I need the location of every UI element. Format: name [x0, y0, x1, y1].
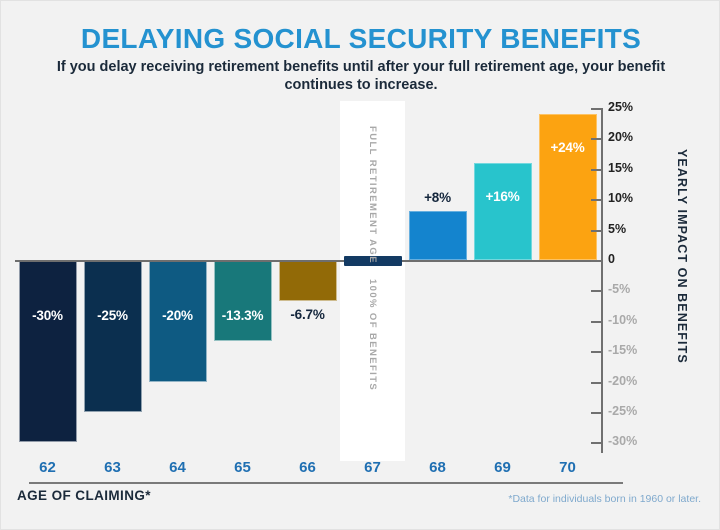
y-tick-label--30%: -30%	[608, 434, 637, 448]
x-axis-baseline	[29, 482, 623, 484]
bar-63[interactable]	[84, 260, 142, 412]
y-tick-label--25%: -25%	[608, 404, 637, 418]
age-label-62[interactable]: 62	[15, 459, 80, 476]
footnote-text: *Data for individuals born in 1960 or la…	[508, 493, 701, 505]
y-tick--5%	[591, 290, 602, 292]
y-tick-5%	[591, 230, 602, 232]
bar-value-label-63: -25%	[80, 308, 145, 323]
bar-column-70[interactable]: +24%	[535, 101, 600, 461]
bar-value-label-64: -20%	[145, 308, 210, 323]
bar-column-68[interactable]: +8%	[405, 101, 470, 461]
y-tick--15%	[591, 351, 602, 353]
age-label-70[interactable]: 70	[535, 459, 600, 476]
y-tick-label--5%: -5%	[608, 282, 630, 296]
y-tick--10%	[591, 321, 602, 323]
bar-column-69[interactable]: +16%	[470, 101, 535, 461]
bar-column-63[interactable]: -25%	[80, 101, 145, 461]
bar-value-label-65: -13.3%	[210, 308, 275, 323]
y-tick-label-5%: 5%	[608, 222, 626, 236]
x-axis-caption: AGE OF CLAIMING*	[17, 488, 151, 503]
infographic-root: DELAYING SOCIAL SECURITY BENEFITS If you…	[0, 0, 720, 530]
y-axis-title: YEARLY IMPACT ON BENEFITS	[675, 149, 689, 364]
y-tick-label-20%: 20%	[608, 130, 633, 144]
bar-70[interactable]	[539, 114, 597, 260]
y-tick-label--20%: -20%	[608, 374, 637, 388]
zero-axis-line	[15, 260, 602, 262]
y-tick-15%	[591, 169, 602, 171]
bar-69[interactable]	[474, 163, 532, 260]
bar-value-label-70: +24%	[535, 140, 600, 155]
y-tick-label--15%: -15%	[608, 343, 637, 357]
bar-62[interactable]	[19, 260, 77, 442]
y-tick-label-15%: 15%	[608, 161, 633, 175]
chart-plot-area: -30%-25%-20%-13.3%-6.7%+8%+16%+24%	[15, 101, 602, 461]
y-tick-0	[591, 260, 602, 262]
y-tick-label--10%: -10%	[608, 313, 637, 327]
age-label-69[interactable]: 69	[470, 459, 535, 476]
y-tick-25%	[591, 108, 602, 110]
bar-column-64[interactable]: -20%	[145, 101, 210, 461]
bar-value-label-62: -30%	[15, 308, 80, 323]
y-tick-label-25%: 25%	[608, 100, 633, 114]
age-label-68[interactable]: 68	[405, 459, 470, 476]
bar-value-label-68: +8%	[405, 190, 470, 205]
fra-below-axis-label: 100% OF BENEFITS	[367, 279, 378, 391]
y-tick--30%	[591, 442, 602, 444]
bar-value-label-69: +16%	[470, 189, 535, 204]
y-tick-label-0: 0	[608, 252, 615, 266]
y-tick-label-10%: 10%	[608, 191, 633, 205]
bar-column-62[interactable]: -30%	[15, 101, 80, 461]
age-label-63[interactable]: 63	[80, 459, 145, 476]
age-label-64[interactable]: 64	[145, 459, 210, 476]
y-tick--25%	[591, 412, 602, 414]
age-label-66[interactable]: 66	[275, 459, 340, 476]
bar-value-label-66: -6.7%	[275, 307, 340, 322]
age-label-65[interactable]: 65	[210, 459, 275, 476]
bar-column-65[interactable]: -13.3%	[210, 101, 275, 461]
y-axis-spine	[601, 108, 603, 453]
page-subtitle: If you delay receiving retirement benefi…	[37, 58, 685, 94]
bar-65[interactable]	[214, 260, 272, 341]
age-label-67[interactable]: 67	[340, 459, 405, 476]
bar-66[interactable]	[279, 260, 337, 301]
bar-68[interactable]	[409, 211, 467, 260]
page-title: DELAYING SOCIAL SECURITY BENEFITS	[1, 23, 720, 55]
y-tick--20%	[591, 382, 602, 384]
fra-above-axis-label: FULL RETIREMENT AGE	[367, 126, 378, 264]
bar-column-66[interactable]: -6.7%	[275, 101, 340, 461]
y-tick-10%	[591, 199, 602, 201]
y-tick-20%	[591, 138, 602, 140]
